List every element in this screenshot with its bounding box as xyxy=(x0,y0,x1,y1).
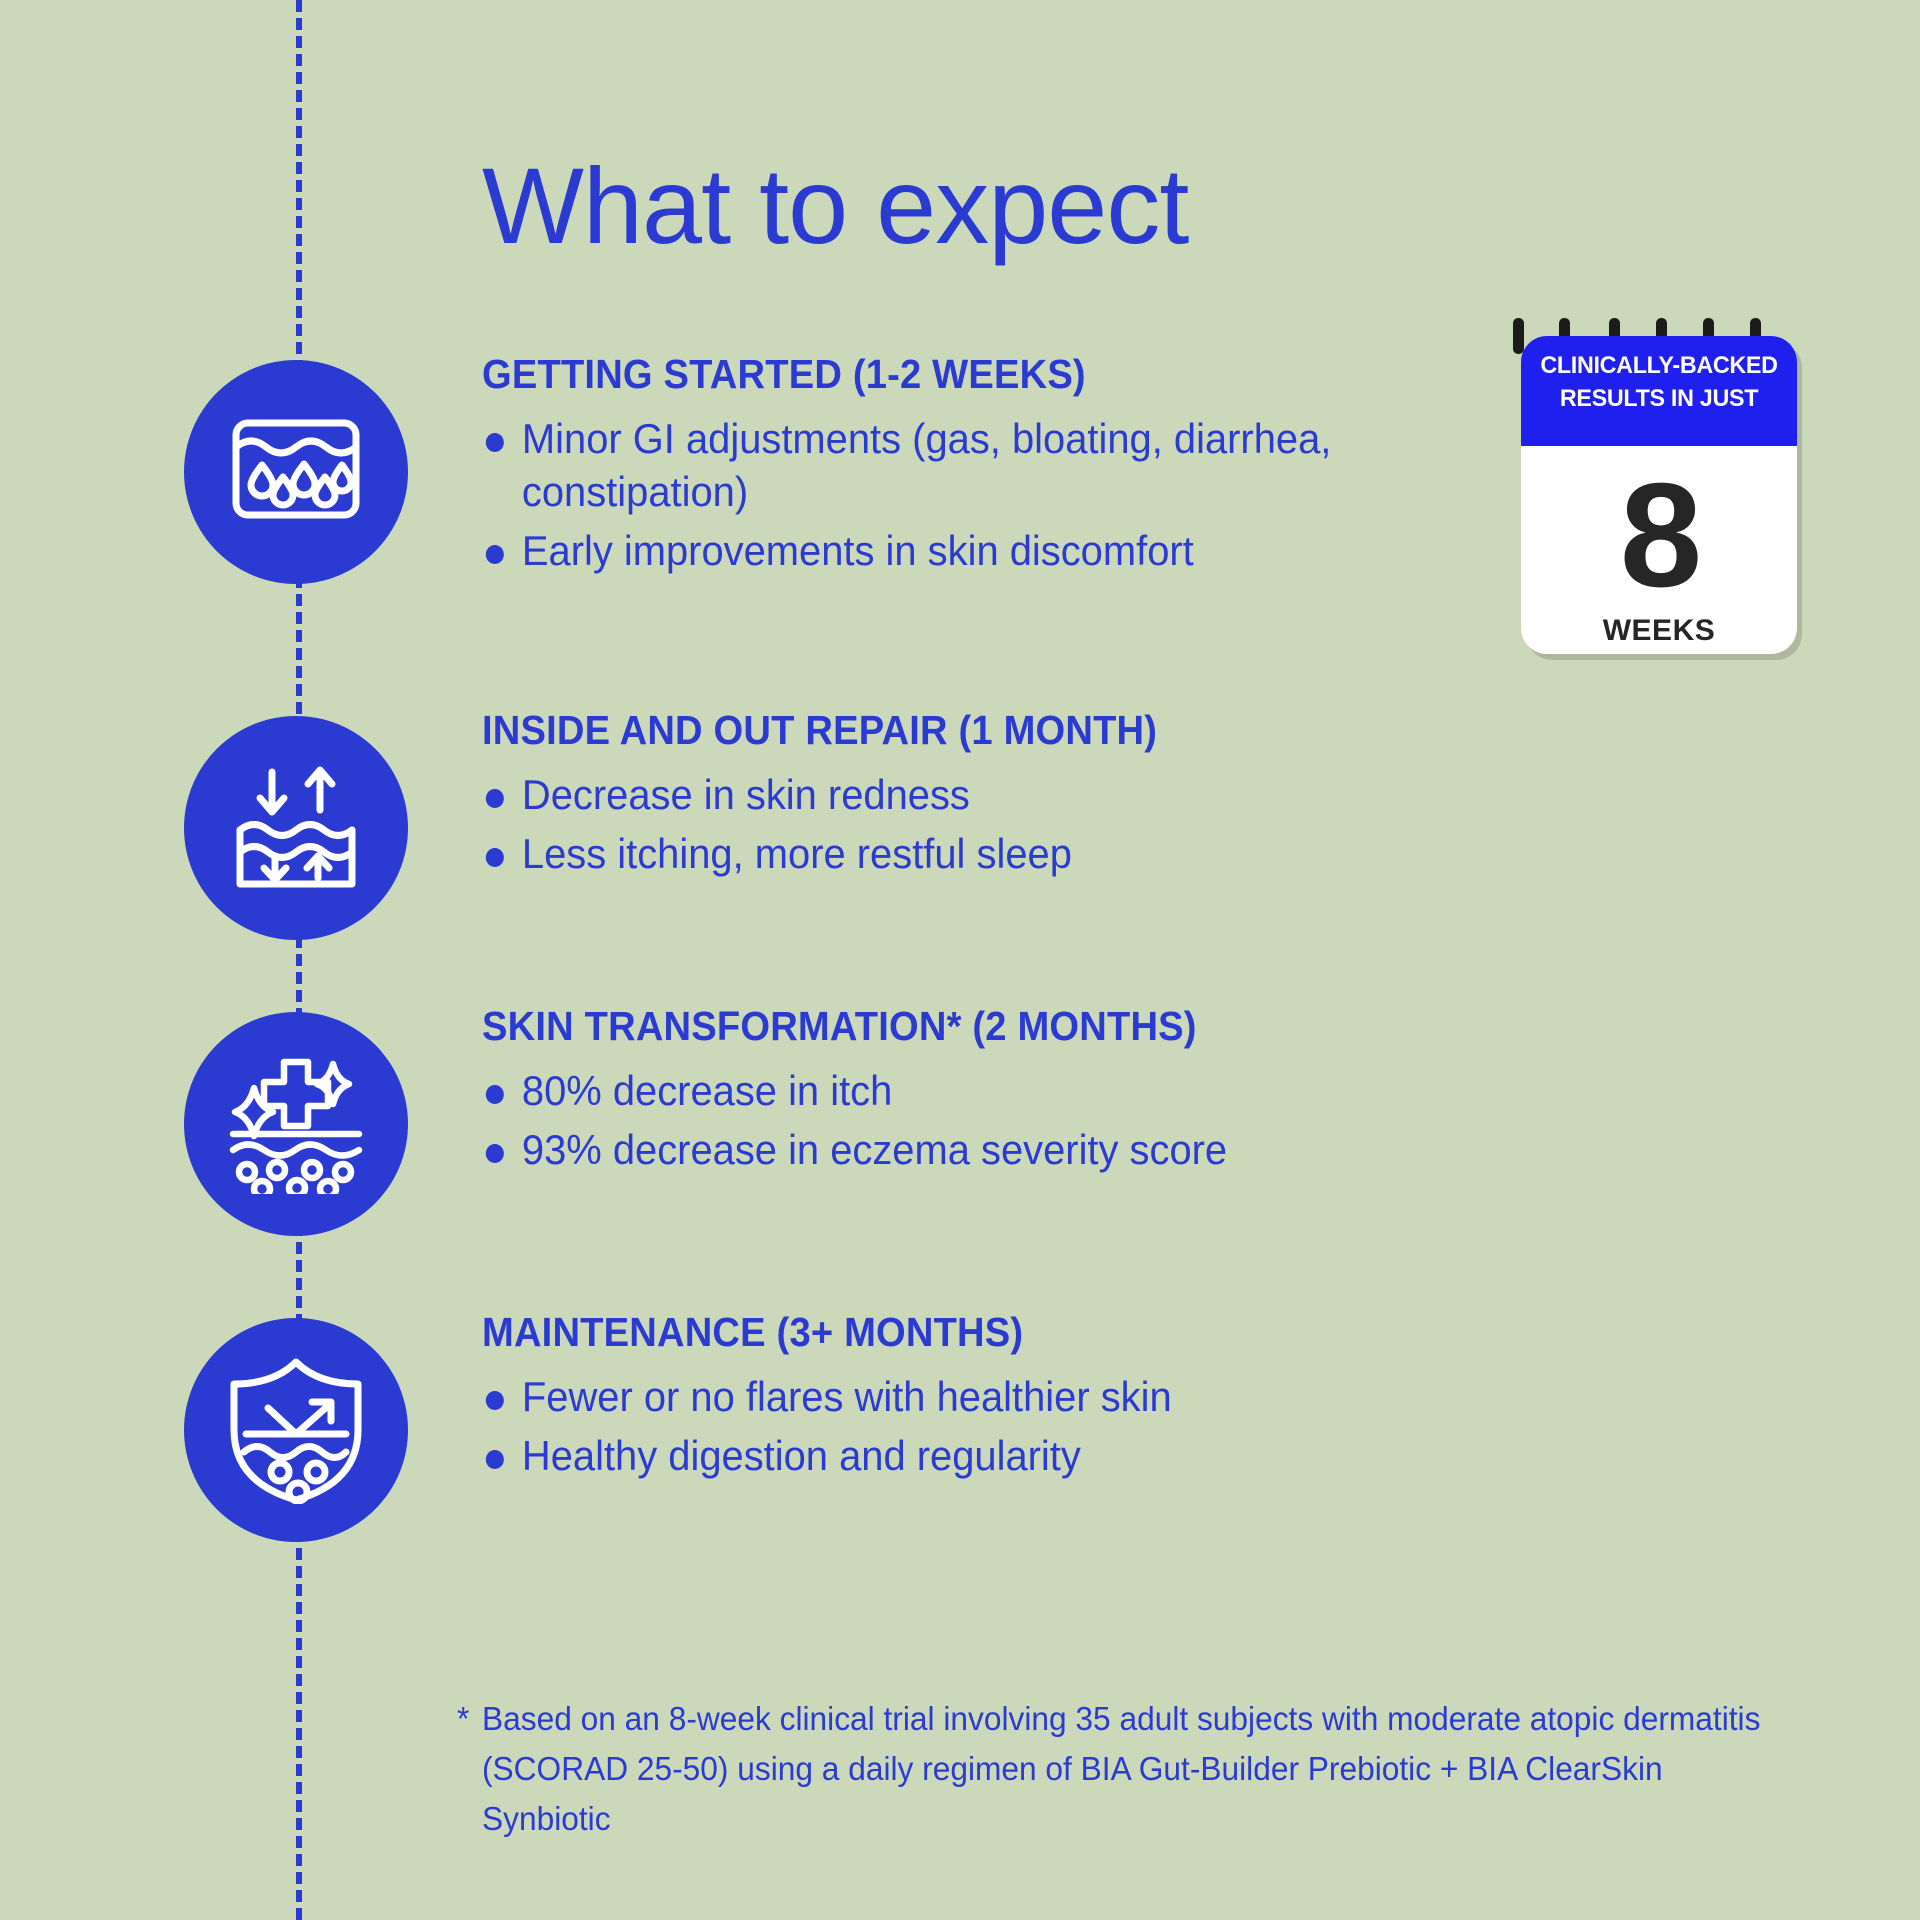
step-heading: MAINTENANCE (3+ MONTHS) xyxy=(482,1310,1412,1355)
skin-layers-arrows-icon xyxy=(184,716,408,940)
list-item: Healthy digestion and regularity xyxy=(482,1430,1432,1483)
skin-healing-sparkle-icon xyxy=(184,1012,408,1236)
calendar-header: CLINICALLY-BACKED RESULTS IN JUST xyxy=(1521,336,1797,446)
step-content: INSIDE AND OUT REPAIR (1 MONTH) Decrease… xyxy=(482,708,1482,887)
list-item: Fewer or no flares with healthier skin xyxy=(482,1371,1432,1424)
step-bullet-list: Decrease in skin redness Less itching, m… xyxy=(482,769,1482,881)
page-title: What to expect xyxy=(482,152,1188,260)
calendar-header-line-2: RESULTS IN JUST xyxy=(1525,383,1793,416)
list-item: Minor GI adjustments (gas, bloating, dia… xyxy=(482,413,1432,519)
calendar-badge: CLINICALLY-BACKED RESULTS IN JUST 8 WEEK… xyxy=(1513,318,1805,658)
timeline-dashed-line xyxy=(296,0,302,1920)
calendar-card: CLINICALLY-BACKED RESULTS IN JUST 8 WEEK… xyxy=(1521,336,1797,654)
step-heading: INSIDE AND OUT REPAIR (1 MONTH) xyxy=(482,708,1412,753)
footnote-text: Based on an 8-week clinical trial involv… xyxy=(482,1694,1768,1844)
step-bullet-list: Fewer or no flares with healthier skin H… xyxy=(482,1371,1482,1483)
step-content: MAINTENANCE (3+ MONTHS) Fewer or no flar… xyxy=(482,1310,1482,1489)
calendar-number: 8 xyxy=(1521,462,1797,610)
list-item: Early improvements in skin discomfort xyxy=(482,525,1432,578)
footnote-marker: * xyxy=(457,1694,469,1744)
list-item: 80% decrease in itch xyxy=(482,1065,1432,1118)
skin-hydration-icon xyxy=(184,360,408,584)
calendar-unit-label: WEEKS xyxy=(1521,614,1797,648)
list-item: Less itching, more restful sleep xyxy=(482,828,1432,881)
step-content: GETTING STARTED (1-2 WEEKS) Minor GI adj… xyxy=(482,352,1482,584)
list-item: 93% decrease in eczema severity score xyxy=(482,1124,1432,1177)
step-heading: GETTING STARTED (1-2 WEEKS) xyxy=(482,352,1412,397)
list-item: Decrease in skin redness xyxy=(482,769,1432,822)
calendar-header-line-1: CLINICALLY-BACKED xyxy=(1525,350,1793,383)
step-content: SKIN TRANSFORMATION* (2 MONTHS) 80% decr… xyxy=(482,1004,1482,1183)
footnote: * Based on an 8-week clinical trial invo… xyxy=(482,1694,1768,1844)
step-bullet-list: 80% decrease in itch 93% decrease in ecz… xyxy=(482,1065,1482,1177)
calendar-ring xyxy=(1513,318,1524,354)
skin-shield-icon xyxy=(184,1318,408,1542)
step-bullet-list: Minor GI adjustments (gas, bloating, dia… xyxy=(482,413,1482,578)
step-heading: SKIN TRANSFORMATION* (2 MONTHS) xyxy=(482,1004,1412,1049)
